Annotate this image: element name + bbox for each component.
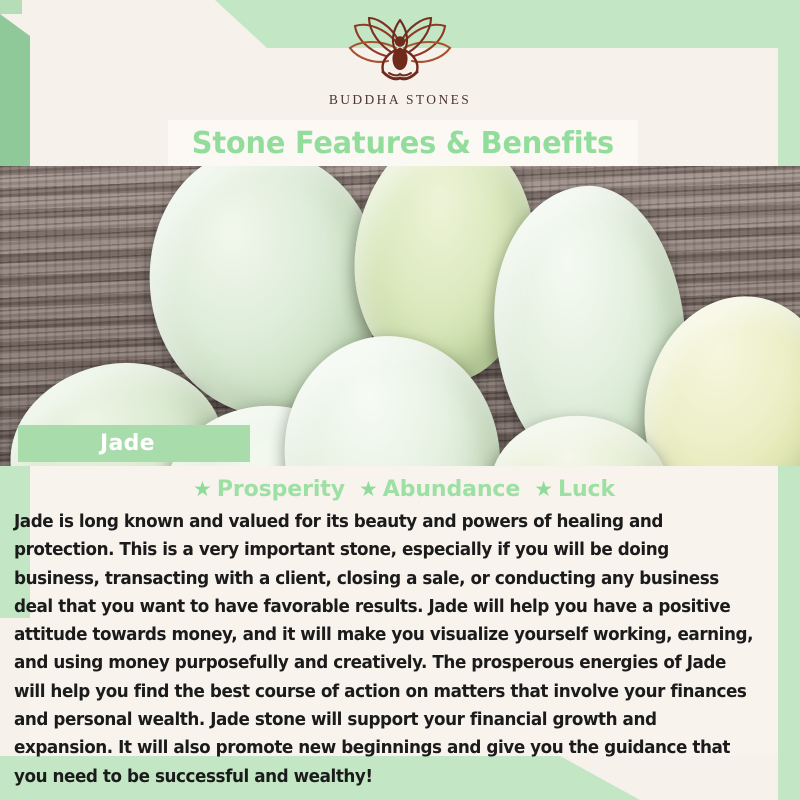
keyword-label: Abundance (383, 477, 520, 502)
brand-wordmark: BUDDHA STONES (329, 92, 471, 108)
lotus-meditation-icon (341, 14, 459, 90)
stone-photo (0, 166, 800, 466)
stone-info-card: BUDDHA STONES Stone Features & Benefits … (0, 0, 800, 800)
page-title: Stone Features & Benefits (192, 126, 614, 161)
keyword-list: ★ Prosperity ★ Abundance ★ Luck (30, 474, 778, 504)
keyword-item: ★ Prosperity (193, 477, 345, 502)
stone-name-band: Jade (18, 425, 250, 462)
header-banner: Stone Features & Benefits (168, 120, 638, 166)
stone-description: Jade is long known and valued for its be… (14, 508, 759, 791)
keyword-item: ★ Abundance (359, 477, 520, 502)
stone-name-label: Jade (100, 431, 155, 456)
keyword-label: Luck (558, 477, 615, 502)
star-icon: ★ (534, 479, 553, 500)
decorative-frame-right-notch (0, 0, 22, 14)
keyword-item: ★ Luck (534, 477, 615, 502)
keyword-label: Prosperity (217, 477, 345, 502)
star-icon: ★ (359, 479, 378, 500)
content-panel: ★ Prosperity ★ Abundance ★ Luck Jade is … (30, 466, 778, 756)
brand-logo-block: BUDDHA STONES (0, 14, 800, 118)
star-icon: ★ (193, 479, 212, 500)
